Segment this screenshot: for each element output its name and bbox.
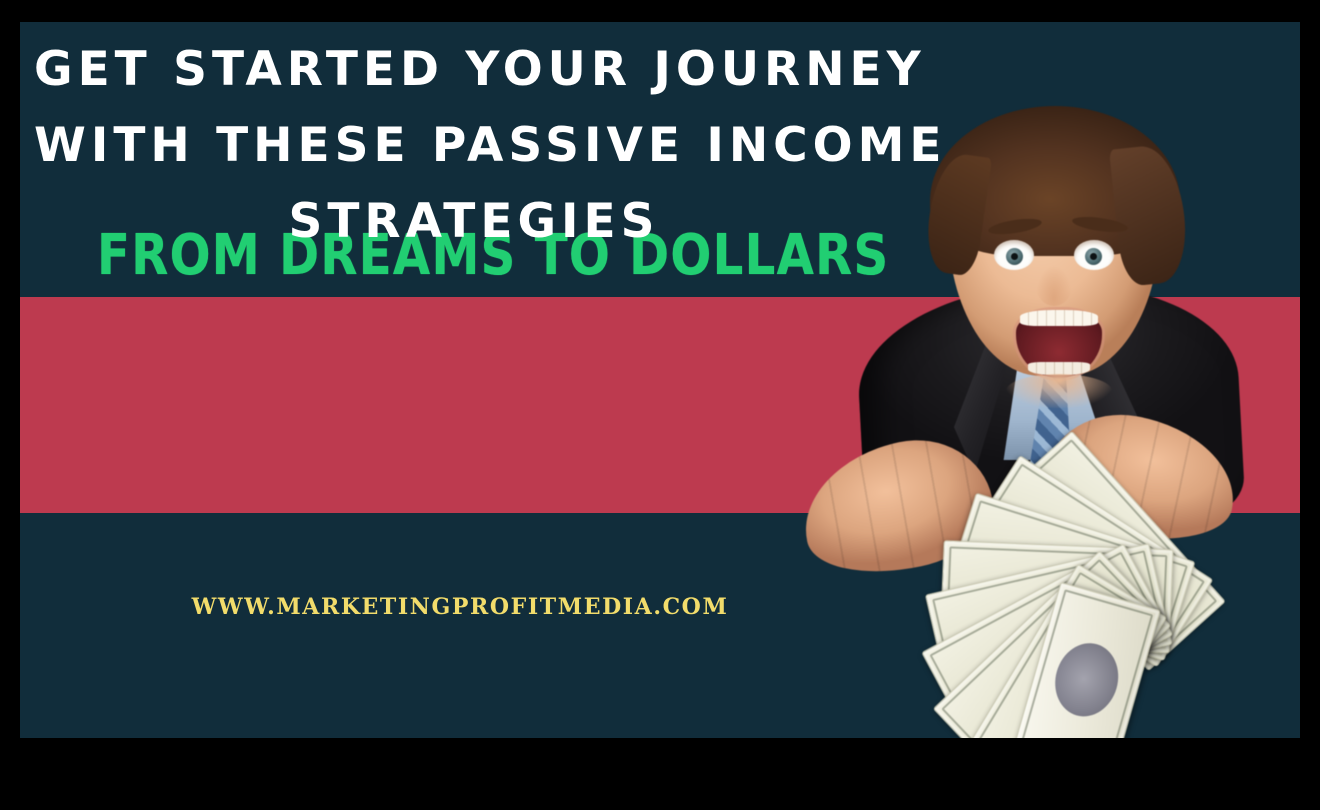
poster-canvas: FROM DREAMS TO DOLLARS GET STARTED YOUR … bbox=[20, 22, 1300, 738]
pupil-right bbox=[1090, 253, 1097, 260]
pupil-left bbox=[1011, 253, 1018, 260]
upper-teeth bbox=[1020, 310, 1098, 326]
nose bbox=[1036, 266, 1072, 306]
hero-photo: 5100100100100100100100100 bbox=[780, 62, 1300, 722]
money-fan: 5100100100100100100100100 bbox=[790, 452, 1300, 732]
chin bbox=[1006, 374, 1112, 408]
outer-frame: FROM DREAMS TO DOLLARS GET STARTED YOUR … bbox=[0, 0, 1320, 810]
website-url[interactable]: WWW.MARKETINGPROFITMEDIA.COM bbox=[20, 594, 900, 620]
